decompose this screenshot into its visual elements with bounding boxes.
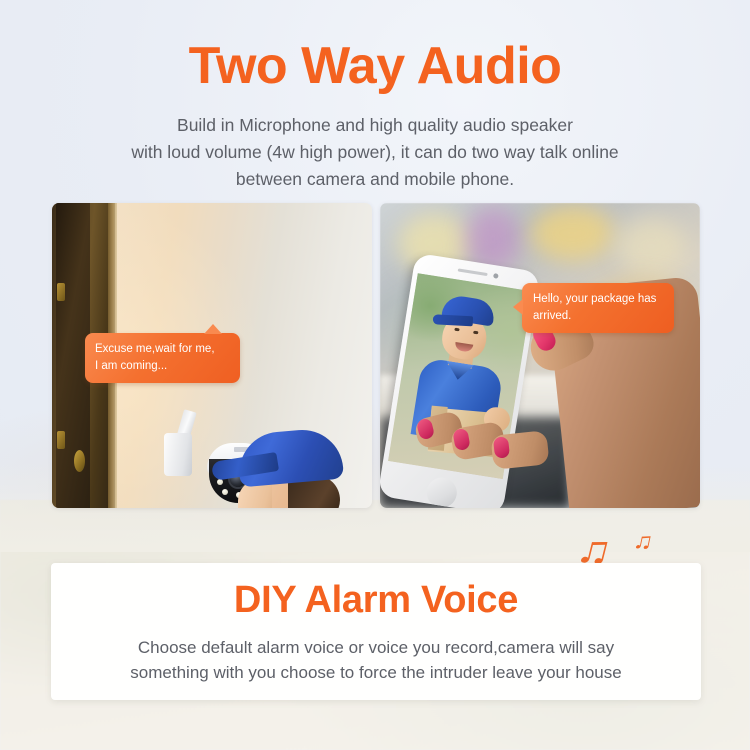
- ir-led: [222, 489, 228, 495]
- page-title: Two Way Audio: [0, 0, 750, 92]
- card-subtitle: Choose default alarm voice or voice you …: [51, 635, 701, 686]
- bubble-right-line-1: Hello, your package has: [533, 291, 664, 308]
- photo-phone-video-call: Hello, your package has arrived.: [380, 203, 700, 508]
- bubble-right-line-2: arrived.: [533, 308, 664, 325]
- door-hinge-upper: [57, 283, 65, 301]
- card-title: DIY Alarm Voice: [51, 563, 701, 621]
- bubble-left-line-1: Excuse me,wait for me,: [95, 341, 230, 358]
- bubble-left-line-2: I am coming...: [95, 358, 230, 375]
- speech-bubble-homeowner: Hello, your package has arrived.: [522, 283, 674, 333]
- screen-man-eye: [473, 331, 478, 335]
- screen-man-eye: [454, 328, 459, 332]
- card-subtitle-line-1: Choose default alarm voice or voice you …: [51, 635, 701, 661]
- door-hinge-lower: [57, 431, 65, 449]
- phone-earpiece: [458, 268, 488, 276]
- finger-nail: [493, 436, 510, 458]
- page-subtitle: Build in Microphone and high quality aud…: [0, 112, 750, 192]
- subtitle-line-1: Build in Microphone and high quality aud…: [0, 112, 750, 139]
- diy-alarm-voice-card: DIY Alarm Voice Choose default alarm voi…: [51, 563, 701, 700]
- speech-bubble-delivery-man: Excuse me,wait for me, I am coming...: [85, 333, 240, 383]
- screen-man-cap-brim: [433, 314, 473, 326]
- door-knob: [74, 450, 85, 472]
- ir-led: [217, 479, 223, 485]
- photo-delivery-man-at-door: Excuse me,wait for me, I am coming...: [52, 203, 372, 508]
- phone-front-camera-icon: [493, 273, 499, 279]
- phone-home-button[interactable]: [425, 475, 459, 508]
- bokeh-blob: [616, 217, 686, 275]
- subtitle-line-3: between camera and mobile phone.: [0, 166, 750, 193]
- card-subtitle-line-2: something with you choose to force the i…: [51, 660, 701, 686]
- header-section: Two Way Audio Build in Microphone and hi…: [0, 0, 750, 192]
- camera-wall-plate: [164, 433, 192, 476]
- bokeh-blob: [530, 205, 614, 261]
- subtitle-line-2: with loud volume (4w high power), it can…: [0, 139, 750, 166]
